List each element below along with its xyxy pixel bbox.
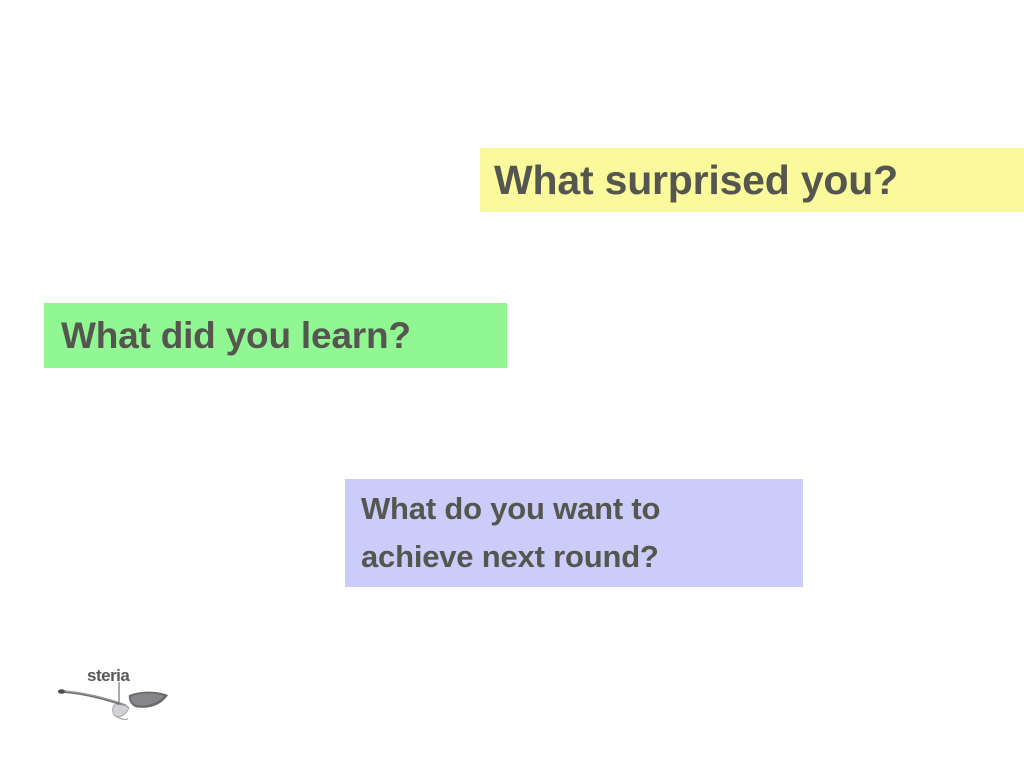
svg-text:steria: steria xyxy=(87,666,130,685)
question-block-learn: What did you learn? xyxy=(44,303,507,368)
steria-logo-icon: steria xyxy=(56,660,172,722)
slide-canvas: What surprised you? What did you learn? … xyxy=(0,0,1024,768)
steria-logo: steria xyxy=(56,660,172,722)
question-block-surprised: What surprised you? xyxy=(480,148,1024,212)
question-block-achieve-next-round: What do you want to achieve next round? xyxy=(345,479,803,587)
